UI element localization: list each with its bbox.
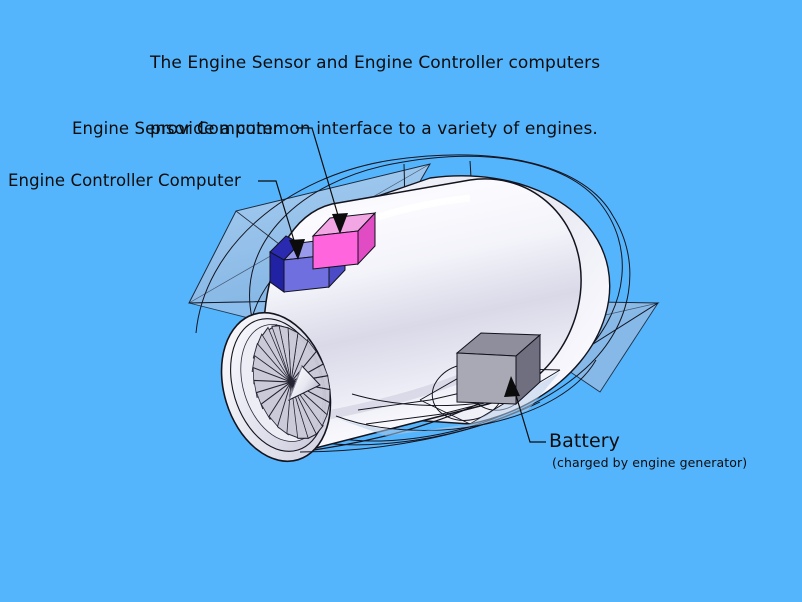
label-battery-note: (charged by engine generator): [552, 455, 747, 470]
label-engine-controller-computer: Engine Controller Computer: [8, 171, 241, 190]
diagram-title: The Engine Sensor and Engine Controller …: [150, 8, 600, 184]
title-line-1: The Engine Sensor and Engine Controller …: [150, 52, 600, 74]
label-battery: Battery: [549, 430, 620, 452]
illustration-stage: The Engine Sensor and Engine Controller …: [0, 0, 802, 602]
label-engine-sensor-computer: Engine Sensor Computer: [72, 119, 280, 138]
battery-box[interactable]: [457, 333, 540, 404]
